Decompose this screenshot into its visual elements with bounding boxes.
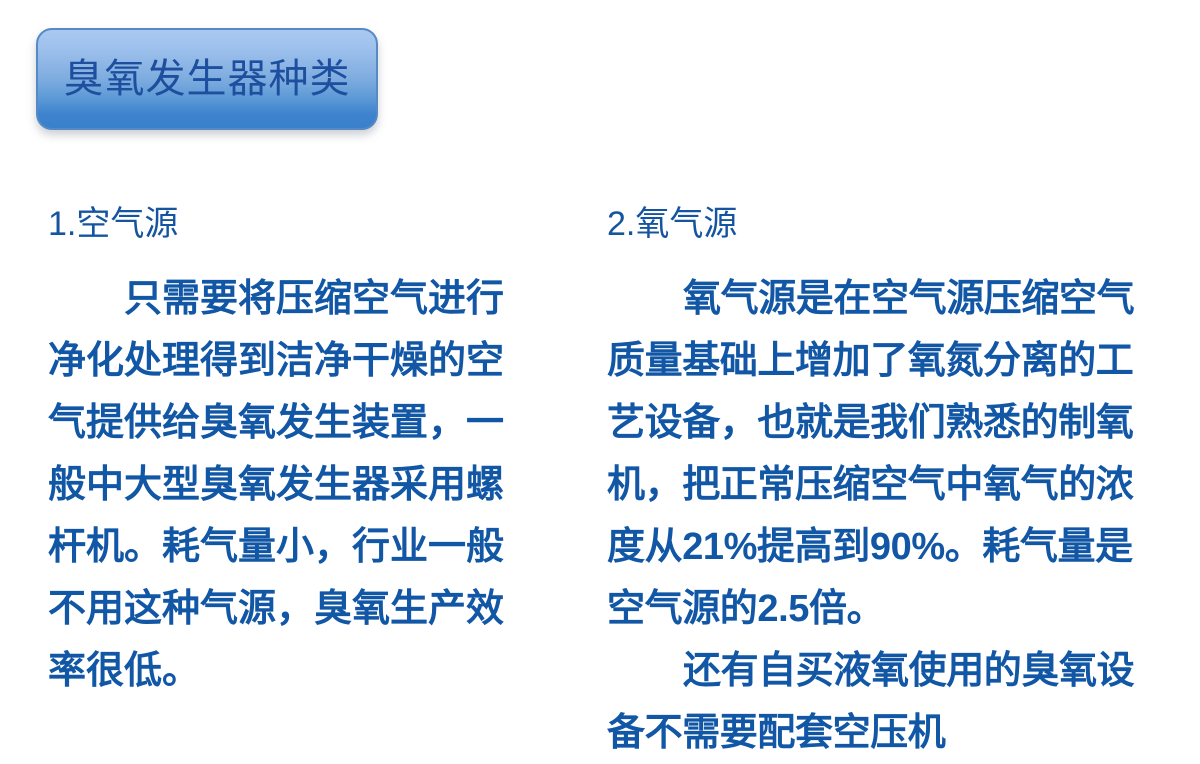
paragraph: 还有自买液氧使用的臭氧设备不需要配套空压机 [607, 640, 1170, 764]
section-heading-1: 1.空气源 [48, 205, 527, 244]
section-body-1: 只需要将压缩空气进行净化处理得到洁净干燥的空气提供给臭氧发生装置，一般中大型臭氧… [48, 268, 527, 702]
title-banner: 臭氧发生器种类 [36, 28, 378, 130]
column-air-source: 1.空气源 只需要将压缩空气进行净化处理得到洁净干燥的空气提供给臭氧发生装置，一… [0, 205, 555, 764]
title-banner-surface: 臭氧发生器种类 [36, 28, 378, 130]
column-oxygen-source: 2.氧气源 氧气源是在空气源压缩空气质量基础上增加了氧氮分离的工艺设备，也就是我… [555, 205, 1200, 764]
section-heading-2: 2.氧气源 [607, 205, 1170, 244]
paragraph: 氧气源是在空气源压缩空气质量基础上增加了氧氮分离的工艺设备，也就是我们熟悉的制氧… [607, 268, 1170, 640]
section-body-2: 氧气源是在空气源压缩空气质量基础上增加了氧氮分离的工艺设备，也就是我们熟悉的制氧… [607, 268, 1170, 764]
content-columns: 1.空气源 只需要将压缩空气进行净化处理得到洁净干燥的空气提供给臭氧发生装置，一… [0, 205, 1200, 764]
page-title: 臭氧发生器种类 [64, 59, 351, 99]
paragraph: 只需要将压缩空气进行净化处理得到洁净干燥的空气提供给臭氧发生装置，一般中大型臭氧… [48, 268, 527, 702]
